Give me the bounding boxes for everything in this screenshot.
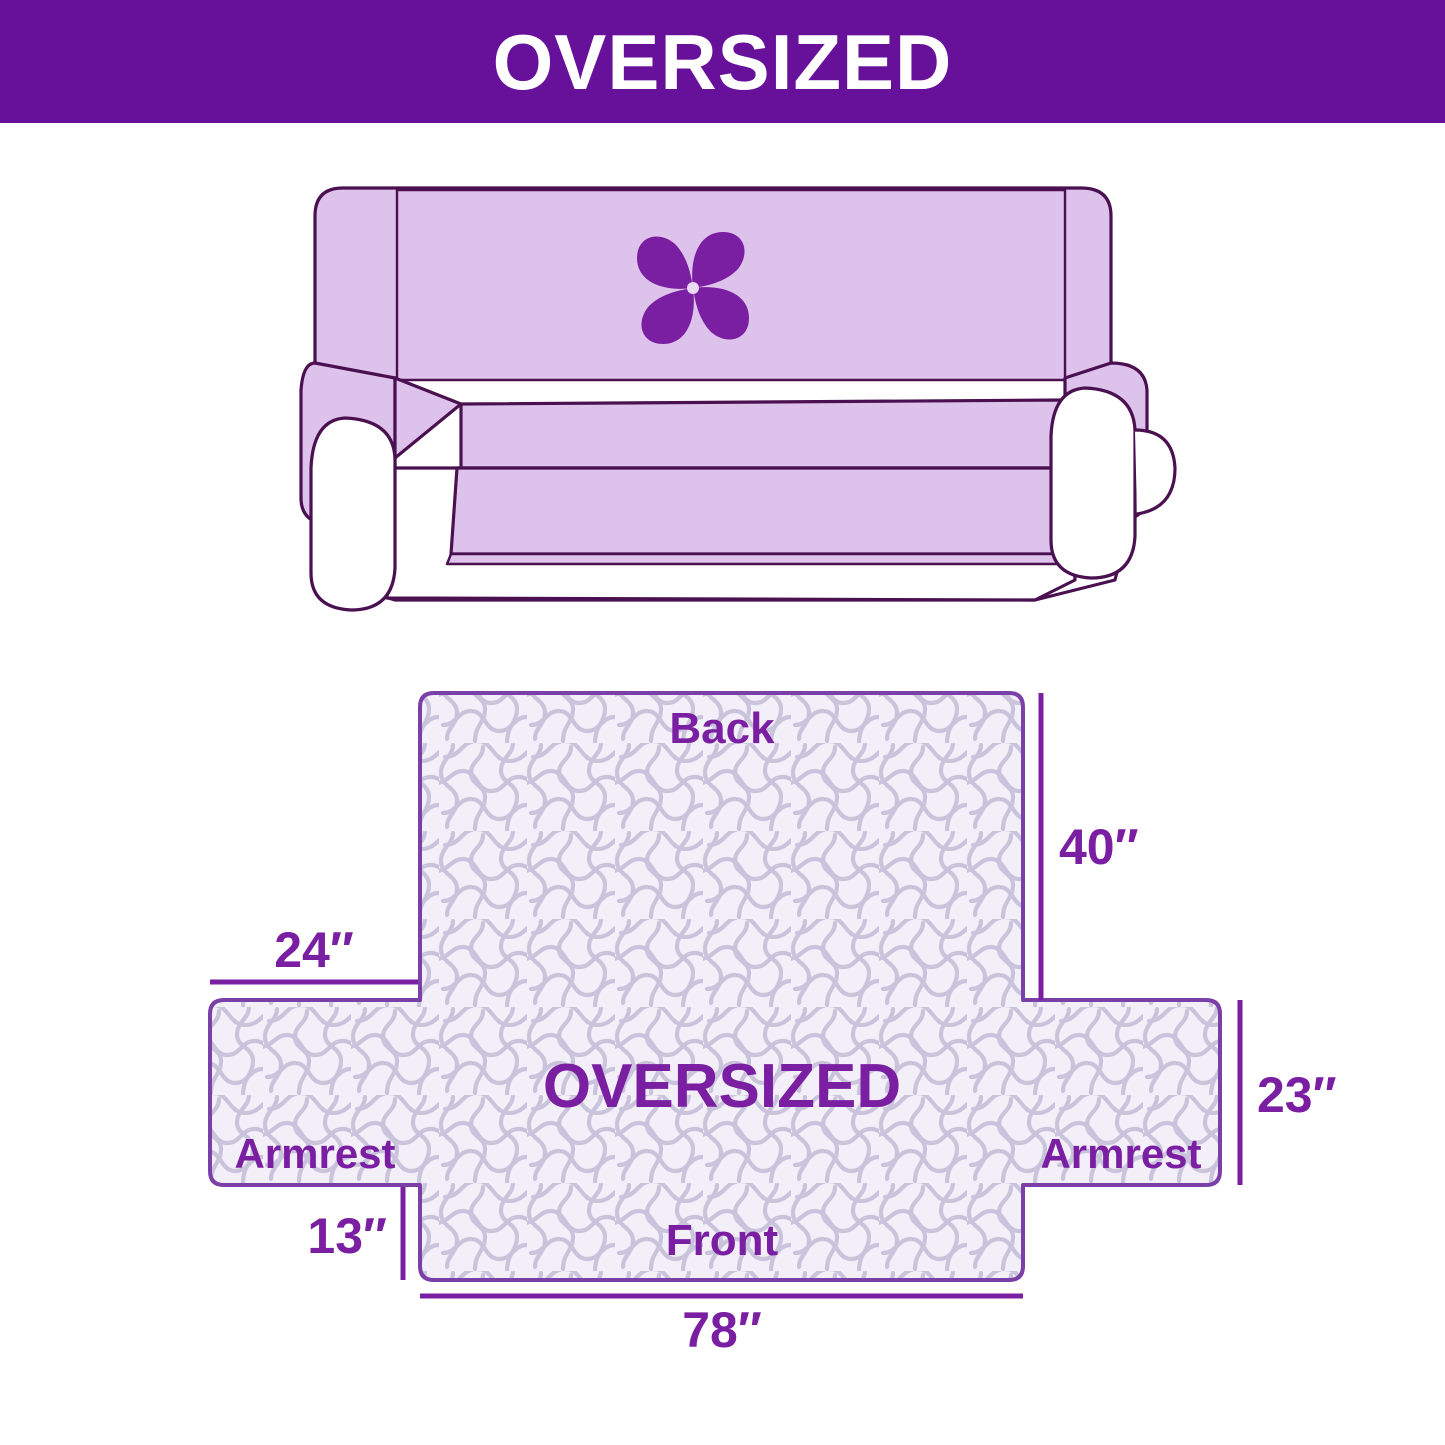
label-armrest-left: Armrest xyxy=(234,1130,395,1177)
dimension-label-78: 78″ xyxy=(682,1302,762,1355)
dimension-label-24: 24″ xyxy=(274,922,354,978)
sofa-illustration: .ln { fill:none; stroke:#4A1050; stroke-… xyxy=(275,168,1185,628)
label-front: Front xyxy=(666,1216,779,1265)
label-back: Back xyxy=(669,704,775,753)
cover-panel-shape xyxy=(210,693,1220,1280)
cover-dimension-diagram: .panel { fill:url(#quilt); stroke:#7B3FA… xyxy=(175,655,1375,1355)
page-title: OVERSIZED xyxy=(493,23,953,101)
header-banner: OVERSIZED xyxy=(0,0,1445,123)
dimension-label-13: 13″ xyxy=(307,1208,387,1264)
dimension-label-40: 40″ xyxy=(1059,819,1139,875)
center-label-oversized: OVERSIZED xyxy=(543,1052,901,1121)
dimension-label-23: 23″ xyxy=(1257,1067,1337,1123)
label-armrest-right: Armrest xyxy=(1040,1130,1201,1177)
